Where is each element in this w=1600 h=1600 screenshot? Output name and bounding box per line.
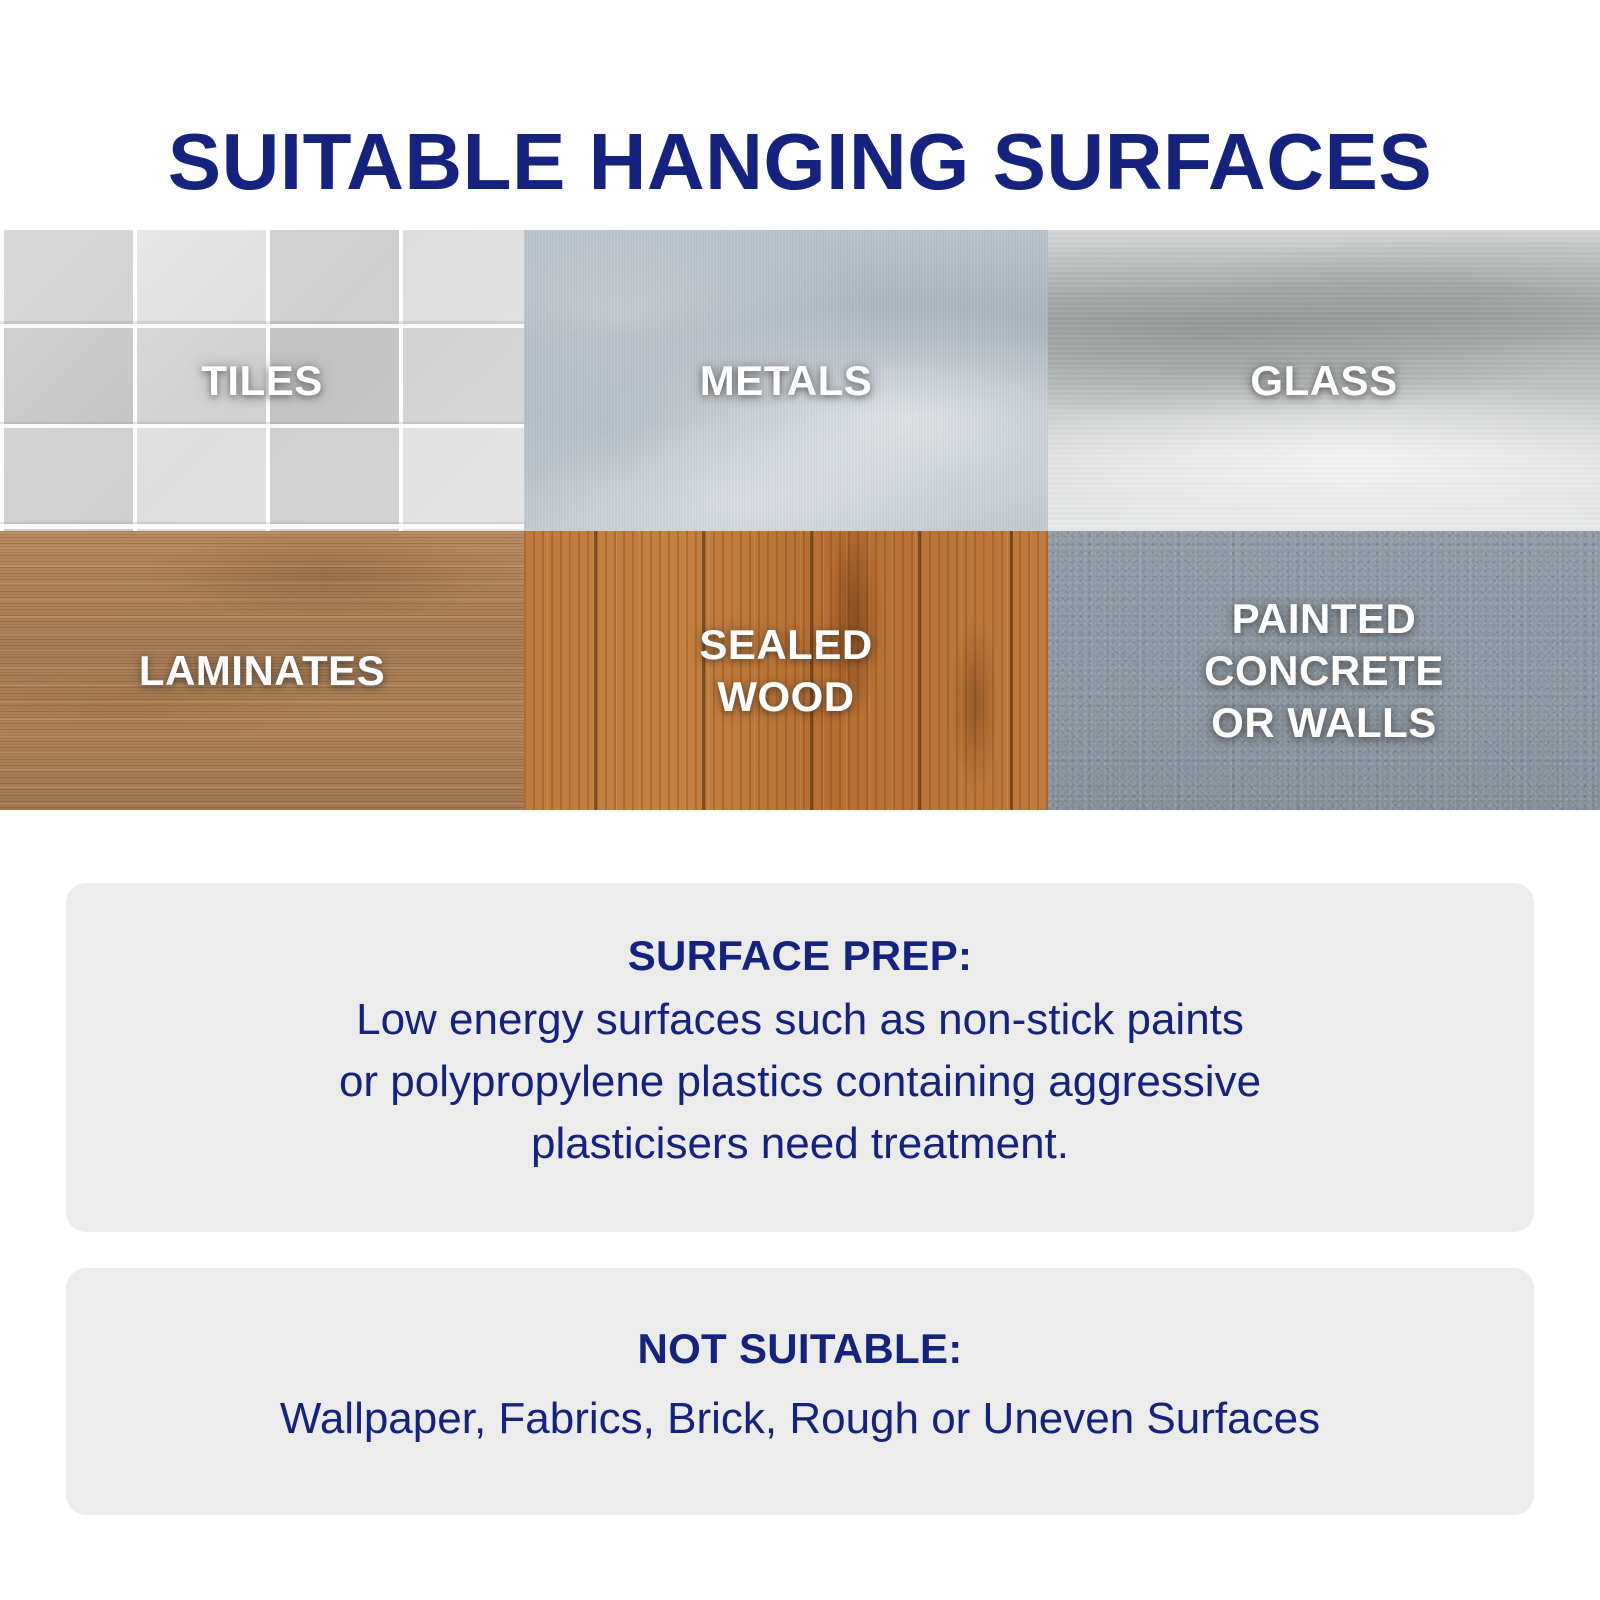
surface-prep-panel: SURFACE PREP: Low energy surfaces such a… xyxy=(66,883,1534,1232)
surface-cell-glass: GLASS xyxy=(1048,230,1600,531)
surface-cell-sealed-wood: SEALED WOOD xyxy=(524,531,1048,810)
surface-grid: TILES METALS GLASS LAMINATES SEALED WOOD… xyxy=(0,230,1600,810)
surface-label-tiles: TILES xyxy=(201,355,323,407)
surface-prep-heading: SURFACE PREP: xyxy=(66,927,1534,985)
surface-label-glass: GLASS xyxy=(1250,355,1397,407)
surface-cell-metals: METALS xyxy=(524,230,1048,531)
surface-label-laminates: LAMINATES xyxy=(139,645,385,697)
not-suitable-body: Wallpaper, Fabrics, Brick, Rough or Unev… xyxy=(66,1388,1534,1450)
page-title: SUITABLE HANGING SURFACES xyxy=(0,116,1600,208)
surface-label-sealed-wood: SEALED WOOD xyxy=(699,619,872,723)
surface-label-painted-concrete: PAINTED CONCRETE OR WALLS xyxy=(1204,593,1444,749)
surface-cell-painted-concrete: PAINTED CONCRETE OR WALLS xyxy=(1048,531,1600,810)
surface-label-metals: METALS xyxy=(700,355,873,407)
surface-cell-tiles: TILES xyxy=(0,230,524,531)
surface-prep-body: Low energy surfaces such as non-stick pa… xyxy=(66,989,1534,1175)
not-suitable-heading: NOT SUITABLE: xyxy=(66,1320,1534,1378)
not-suitable-panel: NOT SUITABLE: Wallpaper, Fabrics, Brick,… xyxy=(66,1268,1534,1515)
surface-cell-laminates: LAMINATES xyxy=(0,531,524,810)
